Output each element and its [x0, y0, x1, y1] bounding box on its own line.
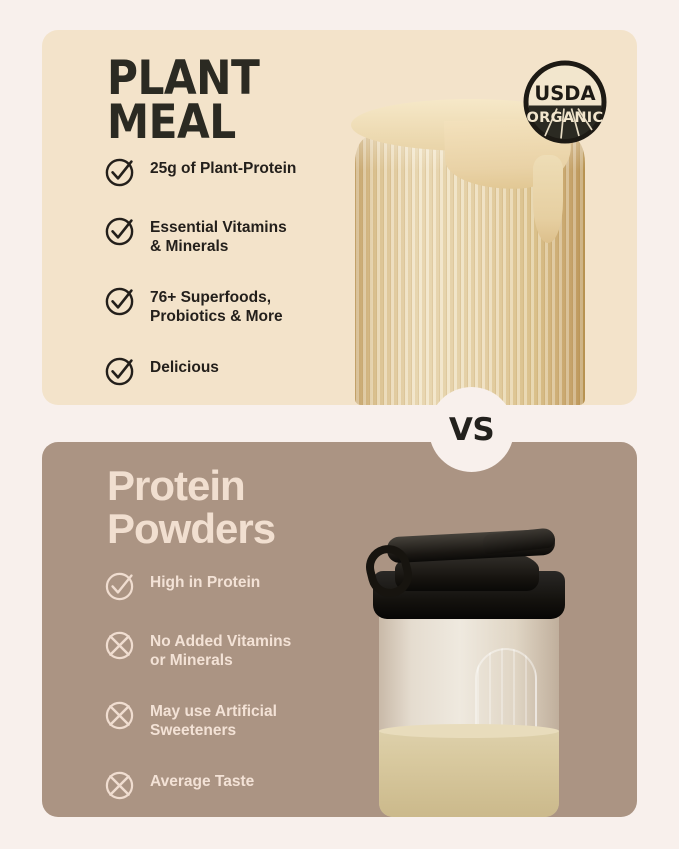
feature-item: 76+ Superfoods, Probiotics & More: [105, 285, 405, 327]
feature-item: 25g of Plant-Protein: [105, 156, 405, 187]
powder-card-title: Protein Powders: [107, 465, 275, 551]
feature-item: No Added Vitamins or Minerals: [105, 629, 405, 671]
feature-label: Average Taste: [150, 769, 254, 792]
check-circle-icon: [105, 356, 138, 386]
plant-meal-card: PLANT MEAL USDA ORGANIC: [42, 30, 637, 405]
shaker-lid-dome: [395, 547, 539, 591]
feature-label: Essential Vitamins & Minerals: [150, 215, 287, 257]
product-comparison-graphic: PLANT MEAL USDA ORGANIC: [0, 0, 679, 849]
x-circle-icon: [105, 630, 138, 660]
shaker-mixer-grid: [475, 648, 537, 770]
check-circle-icon: [105, 157, 138, 187]
protein-powders-card: Protein Powders High in Protein: [42, 442, 637, 817]
feature-label: 25g of Plant-Protein: [150, 156, 296, 179]
usda-badge-top-text: USDA: [534, 82, 595, 105]
feature-item: Essential Vitamins & Minerals: [105, 215, 405, 257]
shaker-jar: [379, 602, 559, 817]
vs-divider-badge: VS: [429, 387, 514, 472]
feature-label: High in Protein: [150, 570, 260, 593]
feature-item: High in Protein: [105, 570, 405, 601]
feature-label: May use Artificial Sweeteners: [150, 699, 277, 741]
feature-label: No Added Vitamins or Minerals: [150, 629, 291, 671]
feature-item: May use Artificial Sweeteners: [105, 699, 405, 741]
feature-label: Delicious: [150, 355, 219, 378]
plant-feature-list: 25g of Plant-Protein Essential Vitamins …: [105, 156, 405, 386]
shaker-spout: [482, 527, 556, 554]
check-circle-icon: [105, 571, 138, 601]
feature-item: Average Taste: [105, 769, 405, 800]
feature-label: 76+ Superfoods, Probiotics & More: [150, 285, 283, 327]
powder-feature-list: High in Protein No Added Vitamins or Min…: [105, 570, 405, 800]
check-circle-icon: [105, 286, 138, 316]
usda-organic-seal-icon: USDA ORGANIC: [523, 60, 607, 144]
check-circle-icon: [105, 216, 138, 246]
usda-badge-bottom-text: ORGANIC: [527, 110, 604, 126]
x-circle-icon: [105, 770, 138, 800]
vs-label: VS: [449, 412, 494, 448]
foam-drip: [533, 155, 563, 243]
x-circle-icon: [105, 700, 138, 730]
shaker-liquid: [379, 731, 559, 817]
feature-item: Delicious: [105, 355, 405, 386]
shaker-flip-cap: [386, 529, 555, 564]
plant-card-title: PLANT MEAL: [107, 57, 259, 144]
